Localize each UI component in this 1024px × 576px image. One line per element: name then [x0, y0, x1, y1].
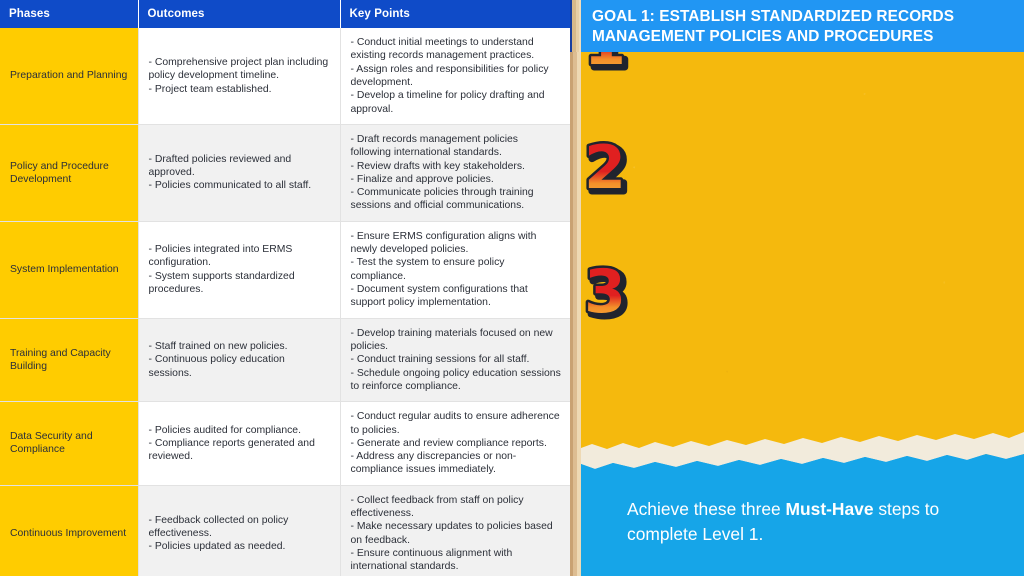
cell-outcomes: - Comprehensive project plan including p…: [138, 28, 340, 124]
cell-line: - Feedback collected on policy effective…: [149, 514, 331, 541]
cell-phase: System Implementation: [0, 221, 138, 318]
footer-emphasis-text: Must-Have: [786, 499, 874, 519]
goal-number-badge-icon: 33: [578, 256, 632, 322]
cell-line: - Conduct regular audits to ensure adher…: [351, 410, 562, 437]
left-edge-strip-lower: [570, 52, 581, 576]
cell-line: - Generate and review compliance reports…: [351, 437, 562, 450]
cell-line: - Project team established.: [149, 83, 331, 96]
table-header-row: Phases Outcomes Key Points: [0, 0, 570, 28]
cell-line: - Policies updated as needed.: [149, 540, 331, 553]
cell-line: - Conduct initial meetings to understand…: [351, 36, 562, 63]
goal-number-badge-icon: 22: [578, 132, 632, 198]
cell-line: - Ensure ERMS configuration aligns with …: [351, 230, 562, 257]
table-row: Data Security and Compliance- Policies a…: [0, 402, 570, 486]
cell-key-points: - Collect feedback from staff on policy …: [340, 485, 570, 576]
goal-pane: GOAL 1: ESTABLISH STANDARDIZED RECORDS M…: [570, 0, 1024, 576]
cell-line: - Develop training materials focused on …: [351, 327, 562, 354]
cell-key-points: - Draft records management policies foll…: [340, 124, 570, 221]
cell-line: - Policies communicated to all staff.: [149, 179, 331, 192]
cell-line: - Address any discrepancies or non-compl…: [351, 450, 562, 477]
cell-line: - Review drafts with key stakeholders.: [351, 160, 562, 173]
cell-key-points: - Develop training materials focused on …: [340, 318, 570, 402]
column-header-phases: Phases: [0, 0, 138, 28]
cell-line: - Test the system to ensure policy compl…: [351, 256, 562, 283]
cell-key-points: - Ensure ERMS configuration aligns with …: [340, 221, 570, 318]
table-row: Policy and Procedure Development- Drafte…: [0, 124, 570, 221]
table-row: System Implementation- Policies integrat…: [0, 221, 570, 318]
cell-line: - Staff trained on new policies.: [149, 340, 331, 353]
cell-phase: Training and Capacity Building: [0, 318, 138, 402]
phases-table-pane: Phases Outcomes Key Points Preparation a…: [0, 0, 570, 576]
cell-line: - Develop a timeline for policy drafting…: [351, 89, 562, 116]
table-row: Preparation and Planning- Comprehensive …: [0, 28, 570, 124]
cell-outcomes: - Drafted policies reviewed and approved…: [138, 124, 340, 221]
cell-line: - Compliance reports generated and revie…: [149, 437, 331, 464]
cell-key-points: - Conduct initial meetings to understand…: [340, 28, 570, 124]
svg-text:2: 2: [584, 133, 626, 198]
cell-line: - System supports standardized procedure…: [149, 270, 331, 297]
cell-outcomes: - Staff trained on new policies.- Contin…: [138, 318, 340, 402]
cell-line: - Assign roles and responsibilities for …: [351, 63, 562, 90]
svg-text:3: 3: [584, 257, 626, 322]
cell-line: - Collect feedback from staff on policy …: [351, 494, 562, 521]
cell-line: - Policies integrated into ERMS configur…: [149, 243, 331, 270]
cell-outcomes: - Policies audited for compliance.- Comp…: [138, 402, 340, 486]
cell-outcomes: - Feedback collected on policy effective…: [138, 485, 340, 576]
table-body: Preparation and Planning- Comprehensive …: [0, 28, 570, 576]
column-header-outcomes: Outcomes: [138, 0, 340, 28]
cell-line: - Draft records management policies foll…: [351, 133, 562, 160]
cell-line: - Communicate policies through training …: [351, 186, 562, 213]
cell-phase: Continuous Improvement: [0, 485, 138, 576]
cell-line: - Finalize and approve policies.: [351, 173, 562, 186]
cell-line: - Drafted policies reviewed and approved…: [149, 153, 331, 180]
cell-phase: Data Security and Compliance: [0, 402, 138, 486]
footer-callout: Achieve these three Must-Have steps to c…: [581, 497, 1024, 548]
table-header: Phases Outcomes Key Points: [0, 0, 570, 28]
cell-phase: Preparation and Planning: [0, 28, 138, 124]
cell-key-points: - Conduct regular audits to ensure adher…: [340, 402, 570, 486]
cell-outcomes: - Policies integrated into ERMS configur…: [138, 221, 340, 318]
cell-line: - Schedule ongoing policy education sess…: [351, 367, 562, 394]
phases-table: Phases Outcomes Key Points Preparation a…: [0, 0, 570, 576]
table-row: Training and Capacity Building- Staff tr…: [0, 318, 570, 402]
cell-line: - Ensure continuous alignment with inter…: [351, 547, 562, 574]
cell-line: - Policies audited for compliance.: [149, 424, 331, 437]
table-row: Continuous Improvement- Feedback collect…: [0, 485, 570, 576]
cell-line: - Document system configurations that su…: [351, 283, 562, 310]
cell-line: - Conduct training sessions for all staf…: [351, 353, 562, 366]
poster-root: Phases Outcomes Key Points Preparation a…: [0, 0, 1024, 576]
goal-header-title: GOAL 1: ESTABLISH STANDARDIZED RECORDS M…: [578, 0, 1024, 52]
cell-line: - Make necessary updates to policies bas…: [351, 520, 562, 547]
column-header-key-points: Key Points: [340, 0, 570, 28]
cell-phase: Policy and Procedure Development: [0, 124, 138, 221]
cell-line: - Continuous policy education sessions.: [149, 353, 331, 380]
footer-lead-text: Achieve these three: [627, 499, 786, 519]
cell-line: - Comprehensive project plan including p…: [149, 56, 331, 83]
